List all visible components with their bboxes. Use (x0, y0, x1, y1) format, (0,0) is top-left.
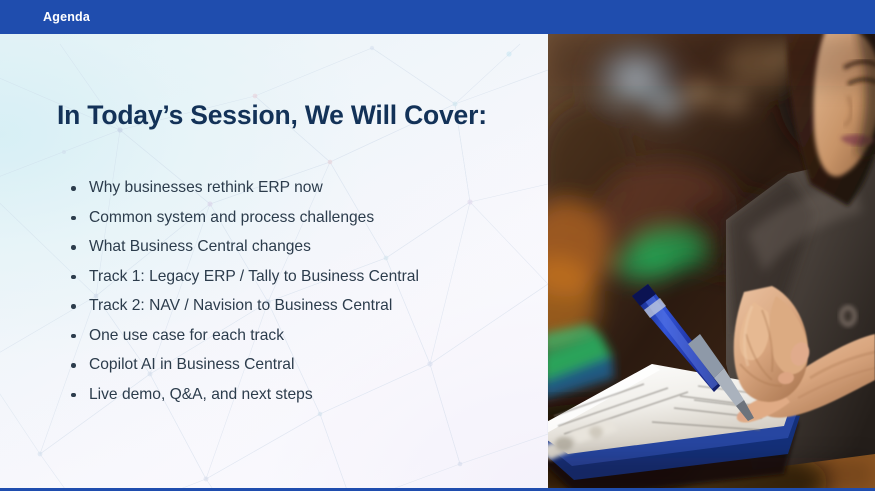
bullet-dot-icon (71, 186, 76, 191)
list-item: Common system and process challenges (68, 203, 419, 233)
list-item: What Business Central changes (68, 232, 419, 262)
list-item-label: Common system and process challenges (89, 209, 374, 226)
slide-content-panel: In Today’s Session, We Will Cover: Why b… (0, 34, 548, 491)
bullet-dot-icon (71, 216, 76, 221)
bullet-dot-icon (71, 304, 76, 309)
slide-header-bar: Agenda (0, 0, 875, 34)
list-item: One use case for each track (68, 321, 419, 351)
list-item-label: One use case for each track (89, 327, 284, 344)
bullet-dot-icon (71, 393, 76, 398)
list-item-label: Why businesses rethink ERP now (89, 179, 323, 196)
list-item-label: Track 2: NAV / Navision to Business Cent… (89, 297, 392, 314)
slide-title: In Today’s Session, We Will Cover: (57, 100, 487, 131)
bullet-dot-icon (71, 275, 76, 280)
list-item-label: Track 1: Legacy ERP / Tally to Business … (89, 268, 419, 285)
list-item: Why businesses rethink ERP now (68, 173, 419, 203)
list-item: Copilot AI in Business Central (68, 350, 419, 380)
list-item-label: What Business Central changes (89, 238, 311, 255)
agenda-bullet-list: Why businesses rethink ERP now Common sy… (68, 173, 419, 409)
list-item-label: Live demo, Q&A, and next steps (89, 386, 313, 403)
list-item: Track 2: NAV / Navision to Business Cent… (68, 291, 419, 321)
list-item: Track 1: Legacy ERP / Tally to Business … (68, 262, 419, 292)
photo-illustration (548, 34, 875, 491)
person-writing-on-clipboard-photo (548, 34, 875, 491)
list-item-label: Copilot AI in Business Central (89, 356, 294, 373)
bullet-dot-icon (71, 334, 76, 339)
list-item: Live demo, Q&A, and next steps (68, 380, 419, 410)
bullet-dot-icon (71, 245, 76, 250)
bullet-dot-icon (71, 363, 76, 368)
presentation-slide: In Today’s Session, We Will Cover: Why b… (0, 0, 875, 491)
header-section-label: Agenda (43, 0, 90, 34)
